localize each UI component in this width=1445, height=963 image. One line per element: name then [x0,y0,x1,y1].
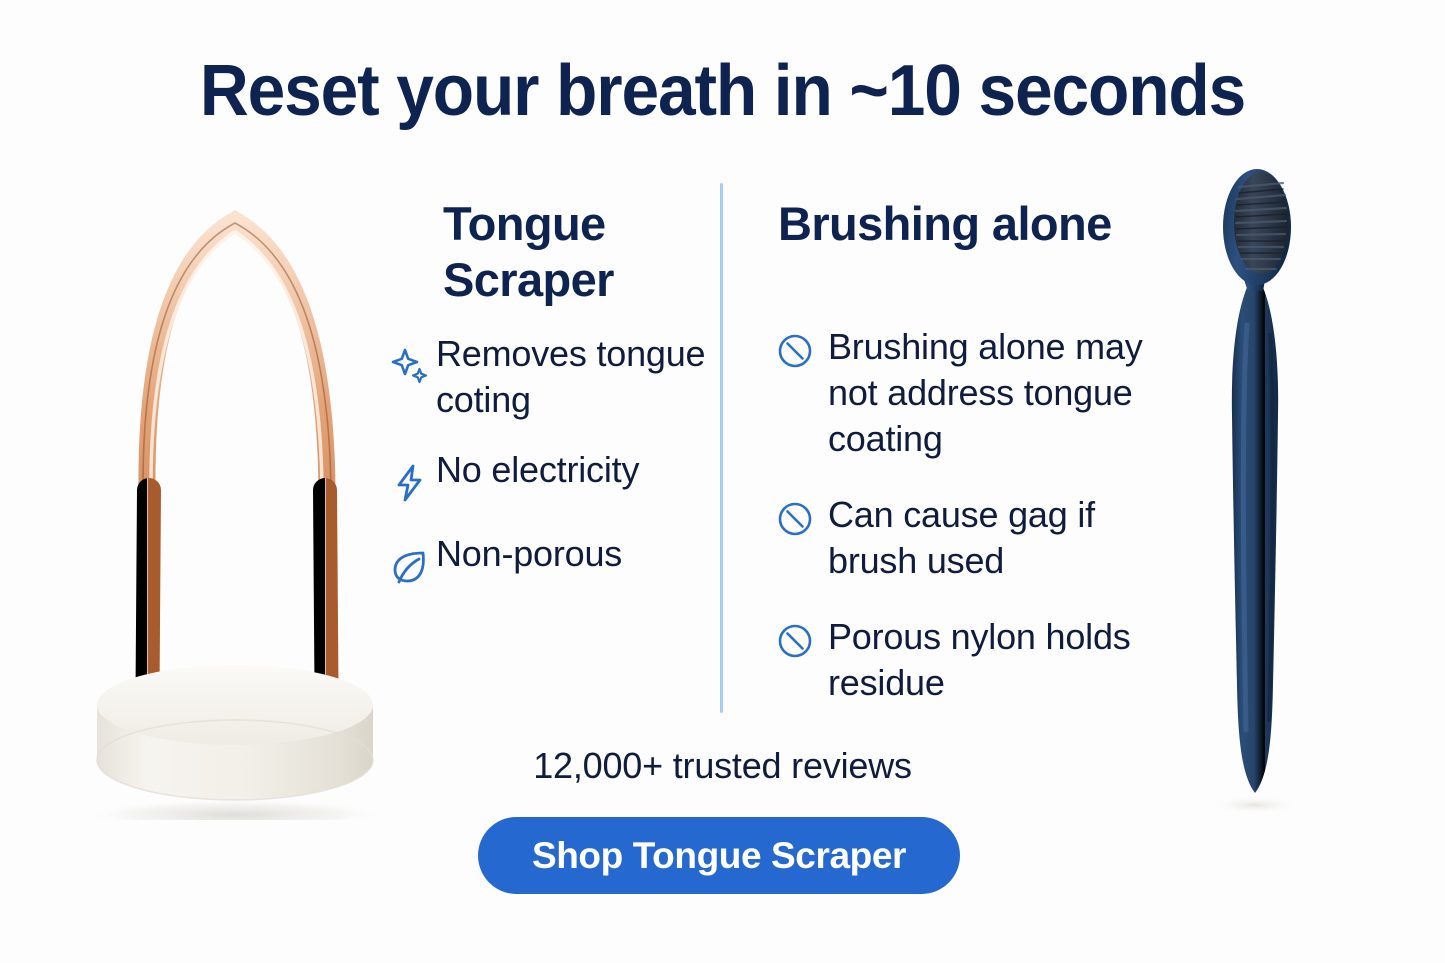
page-title: Reset your breath in ~10 seconds [43,48,1401,134]
sparkles-icon [390,331,436,387]
prohibited-icon [776,614,828,660]
product-shadow [1209,796,1301,814]
drawback-label: Porous nylon holds residue [828,614,1176,706]
list-item: No electricity [390,447,720,503]
benefit-label: No electricity [436,447,639,493]
column-tongue-scraper: Tongue Scraper [443,196,711,308]
column-brushing-alone: Brushing alone [778,196,1168,252]
list-item: Non-porous [390,531,720,587]
reviews-count: 12,000+ trusted reviews [0,744,1445,788]
leaf-icon [390,531,436,587]
column-divider [720,183,723,713]
benefit-list-tongue-scraper: Removes tongue coting No electricity Non… [390,331,720,609]
lightning-bolt-icon [390,447,436,503]
column-title-brushing-alone: Brushing alone [778,196,1168,252]
product-shadow [85,799,385,820]
prohibited-icon [776,492,828,538]
list-item: Removes tongue coting [390,331,720,423]
drawback-label: Brushing alone may not address tongue co… [828,324,1176,462]
benefit-label: Non-porous [436,531,622,577]
prohibited-icon [776,324,828,370]
ad-creative: Reset your breath in ~10 seconds [0,0,1445,963]
drawback-label: Can cause gag if brush used [828,492,1176,584]
column-title-tongue-scraper: Tongue Scraper [443,196,711,308]
drawback-list-brushing-alone: Brushing alone may not address tongue co… [776,324,1176,736]
tongue-scraper-product-image [75,160,405,820]
toothbrush-product-image [1185,165,1325,815]
benefit-label: Removes tongue coting [436,331,720,423]
shop-tongue-scraper-button[interactable]: Shop Tongue Scraper [478,817,960,894]
list-item: Brushing alone may not address tongue co… [776,324,1176,462]
list-item: Can cause gag if brush used [776,492,1176,584]
list-item: Porous nylon holds residue [776,614,1176,706]
